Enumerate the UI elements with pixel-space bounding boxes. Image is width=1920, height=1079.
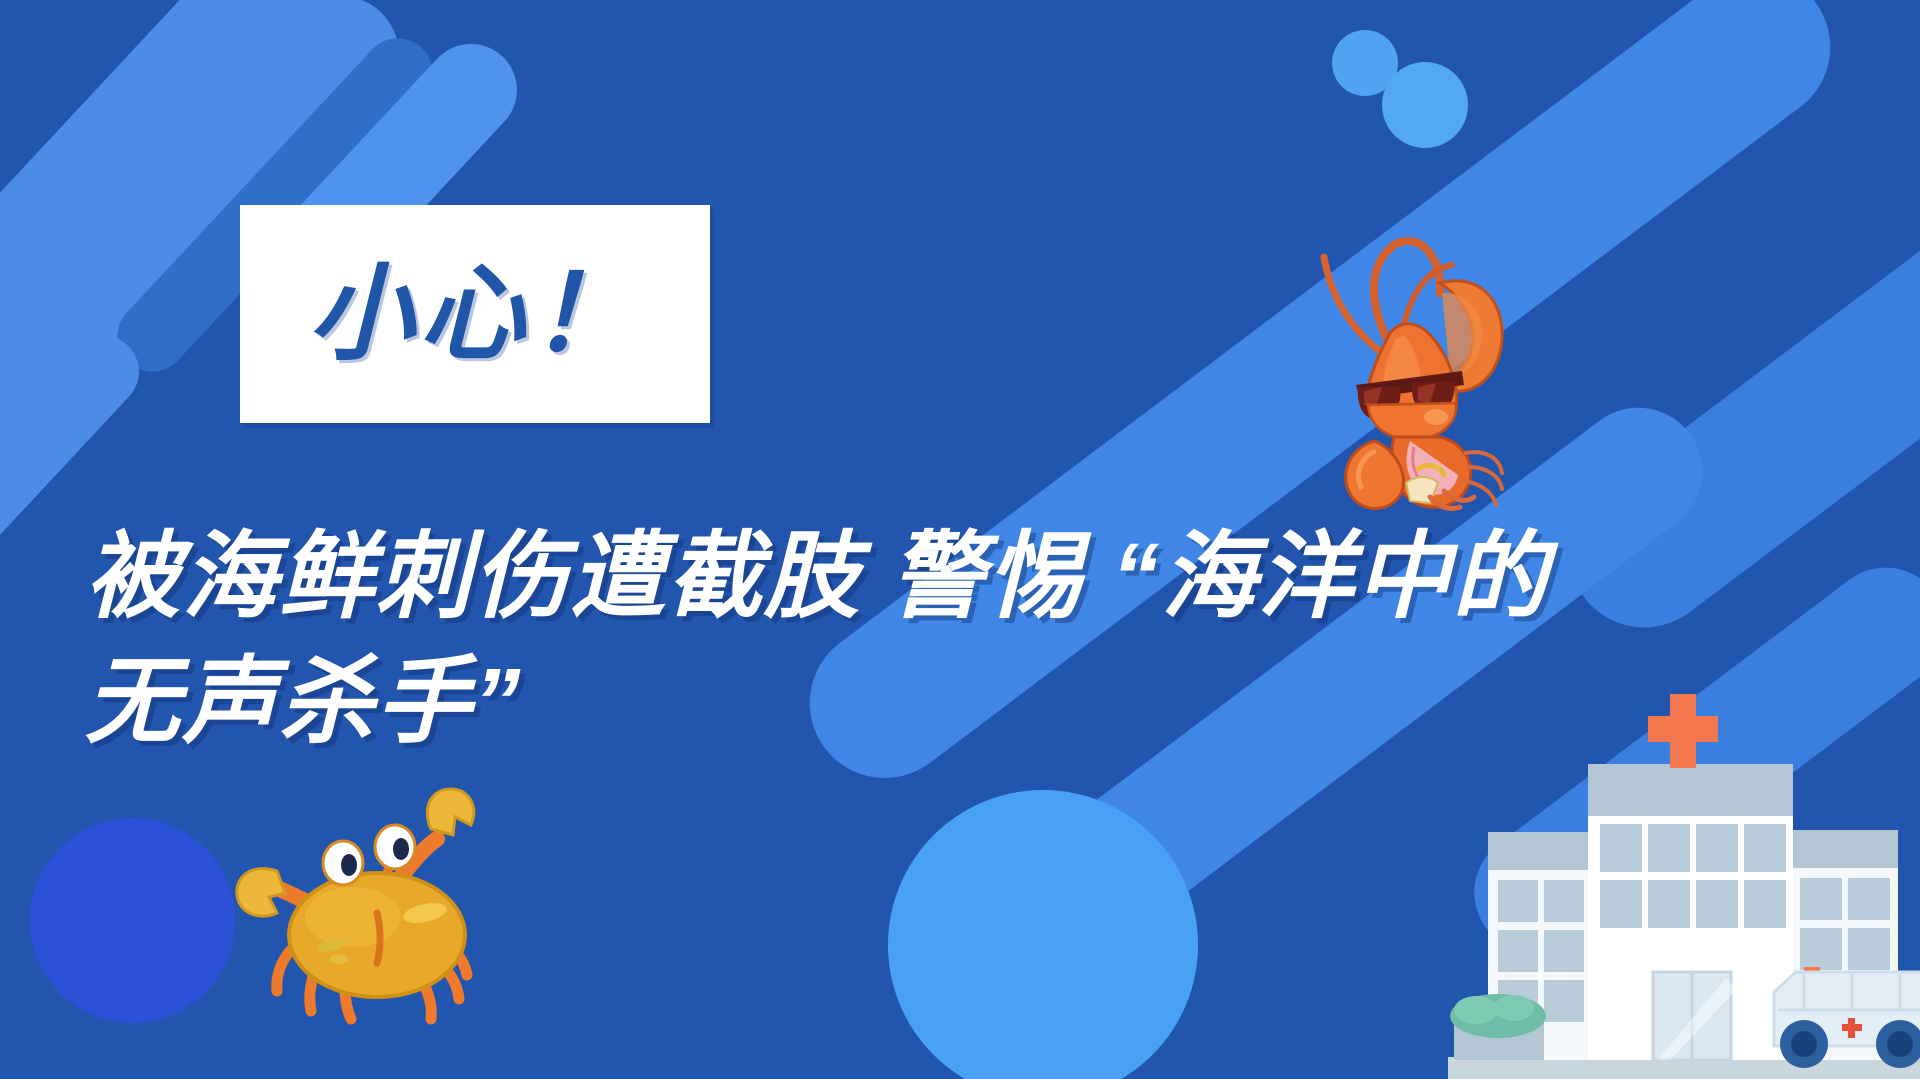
headline-line-1: 被海鲜刺伤遭截肢 警惕 “海洋中的 bbox=[85, 515, 1805, 640]
lobster-icon bbox=[1290, 235, 1520, 515]
caution-card: 小心！ bbox=[240, 205, 710, 423]
poster-canvas: 小心！ 被海鲜刺伤遭截肢 警惕 “海洋中的 无声杀手” bbox=[0, 0, 1920, 1079]
page-title: 被海鲜刺伤遭截肢 警惕 “海洋中的 无声杀手” bbox=[85, 515, 1805, 766]
caution-label: 小心！ bbox=[308, 262, 641, 367]
decorative-circle-top-right-large bbox=[1382, 62, 1468, 148]
decorative-circle-bottom-left bbox=[30, 818, 235, 1023]
decorative-circle-bottom-center bbox=[888, 790, 1198, 1079]
crab-icon bbox=[225, 785, 500, 1035]
headline-line-2: 无声杀手” bbox=[85, 640, 1805, 765]
